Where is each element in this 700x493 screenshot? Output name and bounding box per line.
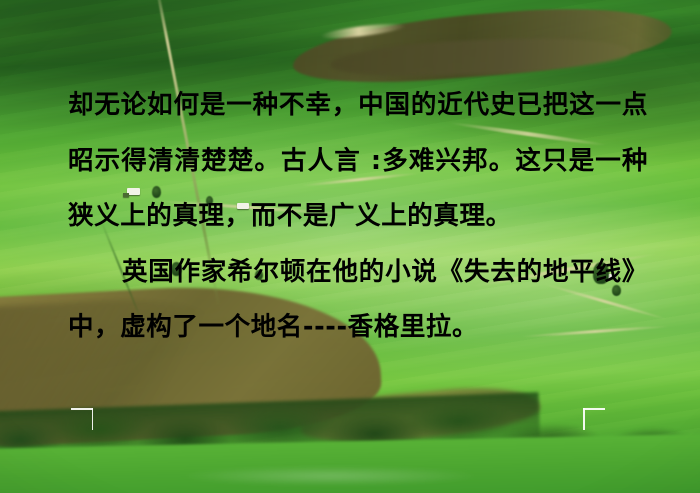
presentation-slide: 却无论如何是一种不幸，中国的近代史已把这一点昭示得清清楚楚。古人言 :多难兴邦。…: [0, 0, 700, 493]
body-paragraph-1[interactable]: 却无论如何是一种不幸，中国的近代史已把这一点昭示得清清楚楚。古人言 :多难兴邦。…: [68, 78, 648, 245]
foreground-grass-highlight: [120, 463, 540, 489]
selection-corner-bottom-left-handle[interactable]: [71, 408, 93, 430]
body-paragraph-2[interactable]: 英国作家希尔顿在他的小说《失去的地平线》中，虚构了一个地名----香格里拉。: [68, 245, 648, 356]
selection-corner-bottom-right-handle[interactable]: [583, 408, 605, 430]
text-placeholder[interactable]: 却无论如何是一种不幸，中国的近代史已把这一点昭示得清清楚楚。古人言 :多难兴邦。…: [68, 78, 648, 426]
